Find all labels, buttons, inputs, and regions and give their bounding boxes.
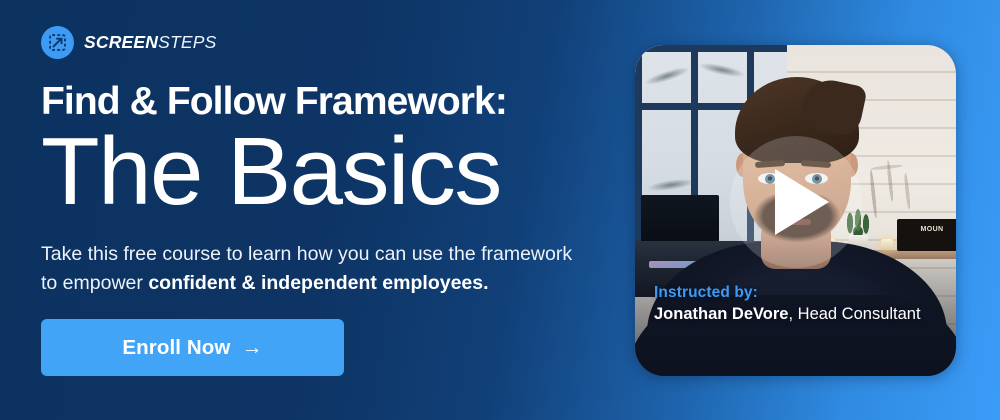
play-button-circle [730,136,862,268]
brand-wordmark: SCREENSTEPS [84,32,217,53]
instructed-by-label: Instructed by: [654,282,921,303]
screensteps-circle-arrow-icon [41,26,74,59]
hero-content: SCREENSTEPS Find & Follow Framework: The… [41,0,611,420]
enroll-now-button[interactable]: Enroll Now → [41,319,344,376]
instructor-credit: Instructed by: Jonathan DeVore, Head Con… [654,282,921,326]
subtitle-strong: confident & independent employees. [148,272,488,294]
course-promo-banner: SCREENSTEPS Find & Follow Framework: The… [0,0,1000,420]
brand-logo[interactable]: SCREENSTEPS [41,26,217,59]
video-thumbnail[interactable]: MOUN [635,45,956,376]
play-button[interactable] [635,45,956,376]
arrow-right-icon: → [241,337,262,358]
hero-subtitle: Take this free course to learn how you c… [41,240,589,298]
instructor-name: Jonathan DeVore [654,305,788,323]
instructor-title: , Head Consultant [788,305,920,323]
brand-name-bold: SCREEN [84,32,158,52]
enroll-now-label: Enroll Now [122,336,230,360]
page-title: The Basics [41,124,501,220]
instructor-line: Jonathan DeVore, Head Consultant [654,303,921,326]
play-triangle-icon [775,169,829,235]
brand-name-light: STEPS [158,32,216,52]
